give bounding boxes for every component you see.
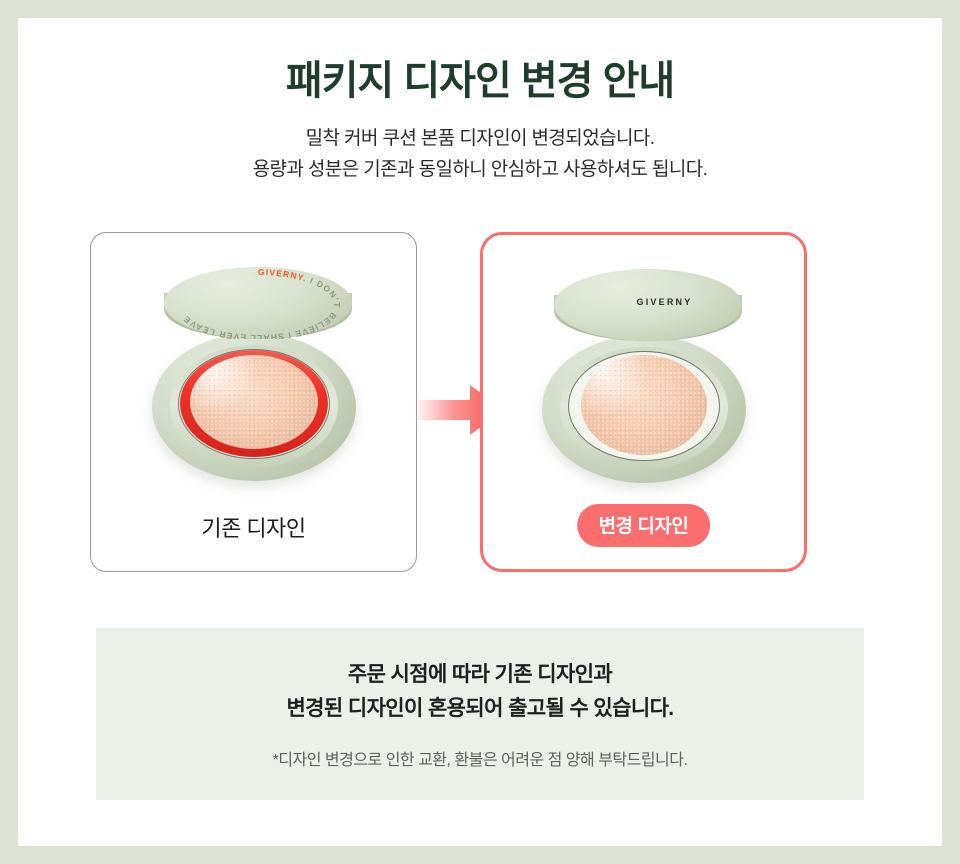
page-title: 패키지 디자인 변경 안내 bbox=[18, 58, 942, 104]
design-comparison: GIVERNY. I DON'T BELIEVE I SHALL EVER LE… bbox=[18, 232, 942, 592]
cushion-compact-old: GIVERNY. I DON'T BELIEVE I SHALL EVER LE… bbox=[144, 257, 364, 485]
notice-footnote: *디자인 변경으로 인한 교환, 환불은 어려운 점 양해 부탁드립니다. bbox=[273, 746, 688, 770]
notice-box: 주문 시점에 따라 기존 디자인과 변경된 디자인이 혼용되어 출고될 수 있습… bbox=[96, 628, 864, 800]
svg-text:GIVERNY. I DON'T BELIEVE I SHA: GIVERNY. I DON'T BELIEVE I SHALL EVER LE… bbox=[180, 267, 341, 339]
compact-lid-new: GIVERNY bbox=[554, 269, 742, 365]
cushion-compact-new: GIVERNY bbox=[534, 259, 754, 487]
lid-brand-text-new: GIVERNY bbox=[554, 297, 742, 307]
lid-circular-text: GIVERNY. I DON'T BELIEVE I SHALL EVER LE… bbox=[164, 267, 352, 339]
subtitle-line-1: 밀착 커버 쿠션 본품 디자인이 변경되었습니다. bbox=[18, 124, 942, 155]
content-canvas: 패키지 디자인 변경 안내 밀착 커버 쿠션 본품 디자인이 변경되었습니다. … bbox=[18, 18, 942, 846]
new-design-card: GIVERNY 변경 디자인 bbox=[480, 232, 807, 572]
header: 패키지 디자인 변경 안내 밀착 커버 쿠션 본품 디자인이 변경되었습니다. … bbox=[18, 58, 942, 186]
compact-lid-old: GIVERNY. I DON'T BELIEVE I SHALL EVER LE… bbox=[164, 267, 352, 363]
old-design-card: GIVERNY. I DON'T BELIEVE I SHALL EVER LE… bbox=[90, 232, 417, 572]
page-subtitle: 밀착 커버 쿠션 본품 디자인이 변경되었습니다. 용량과 성분은 기존과 동일… bbox=[18, 124, 942, 186]
notice-line-2: 변경된 디자인이 혼용되어 출고될 수 있습니다. bbox=[286, 692, 673, 726]
new-design-badge: 변경 디자인 bbox=[577, 504, 711, 547]
notice-main-text: 주문 시점에 따라 기존 디자인과 변경된 디자인이 혼용되어 출고될 수 있습… bbox=[286, 658, 673, 726]
old-design-label: 기존 디자인 bbox=[91, 511, 416, 543]
subtitle-line-2: 용량과 성분은 기존과 동일하니 안심하고 사용하셔도 됩니다. bbox=[18, 155, 942, 186]
page-frame: 패키지 디자인 변경 안내 밀착 커버 쿠션 본품 디자인이 변경되었습니다. … bbox=[0, 0, 960, 864]
cushion-puff bbox=[581, 355, 707, 455]
new-design-image: GIVERNY bbox=[483, 241, 804, 503]
notice-line-1: 주문 시점에 따라 기존 디자인과 bbox=[286, 658, 673, 692]
cushion-puff bbox=[190, 355, 318, 449]
lid-brand-text-old: GIVERNY bbox=[257, 267, 304, 283]
old-design-image: GIVERNY. I DON'T BELIEVE I SHALL EVER LE… bbox=[91, 239, 416, 501]
